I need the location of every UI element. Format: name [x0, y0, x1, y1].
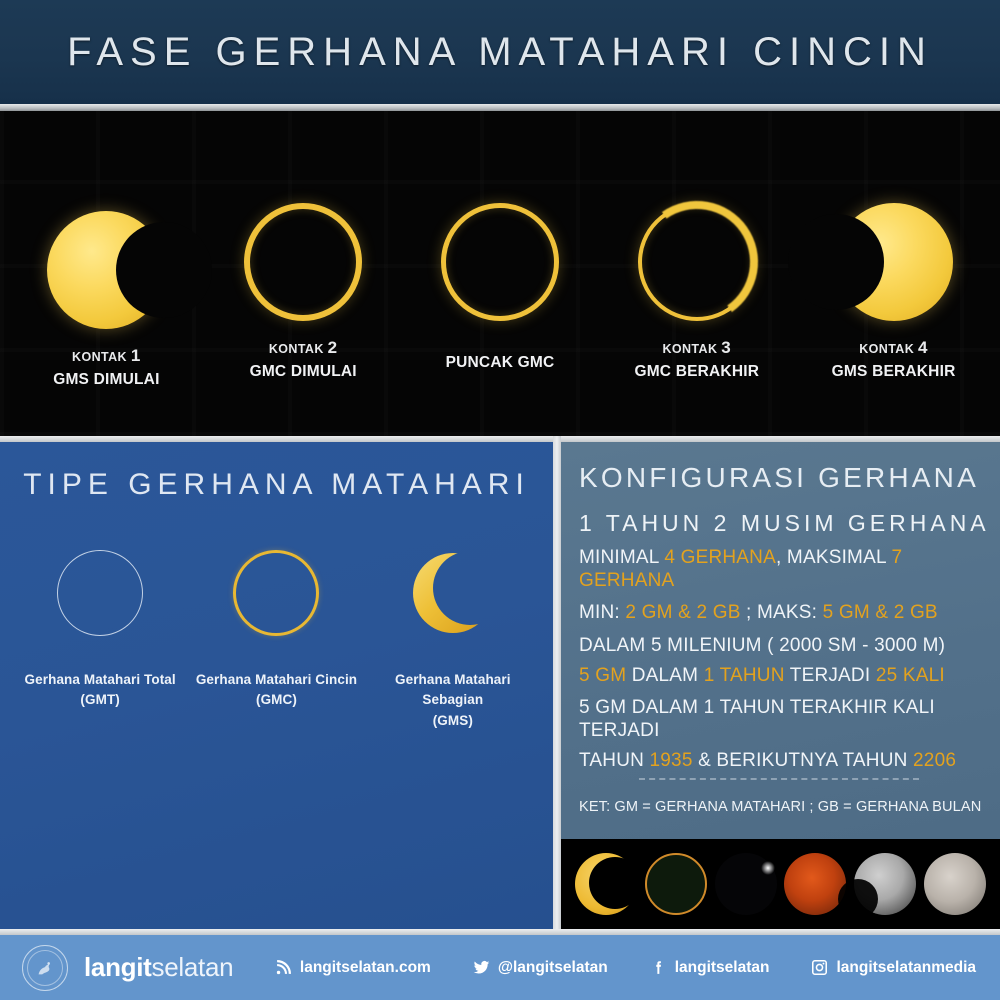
configuration-headline: 1 TAHUN 2 MUSIM GERHANA [579, 510, 1000, 537]
stat-five-gm-frequency: 5 GM DALAM 1 TAHUN TERJADI 25 KALI [579, 664, 1000, 687]
type-item-gms: Gerhana Matahari Sebagian(GMS) [369, 550, 537, 731]
facebook-icon [650, 959, 667, 976]
gold-ring-outline-icon [233, 550, 319, 636]
annular-ring-thin-icon [441, 203, 559, 321]
phase-labels: KONTAK 4 GMS BERAKHIR [832, 337, 956, 383]
configuration-panel-title: KONFIGURASI GERHANA [579, 462, 1000, 494]
phase-item-kontak-1: KONTAK 1 GMS DIMULAI [14, 111, 199, 391]
social-twitter[interactable]: @langitselatan [473, 959, 608, 977]
header-divider [0, 104, 1000, 111]
type-item-gmc: Gerhana Matahari Cincin(GMC) [192, 550, 360, 731]
brand-wordmark: langitselatan [84, 952, 233, 983]
photo-total-lunar-eclipse-blood-moon [784, 853, 846, 915]
langitselatan-emblem-icon [22, 945, 68, 991]
photo-total-solar-eclipse-corona [715, 853, 777, 915]
eclipse-configuration-panel: KONFIGURASI GERHANA 1 TAHUN 2 MUSIM GERH… [561, 442, 1000, 929]
phase-contact-line: KONTAK 4 [832, 337, 956, 360]
gold-crescent-icon [410, 550, 496, 636]
stat-last-occurrence-years: TAHUN 1935 & BERIKUTNYA TAHUN 2206 [579, 749, 1000, 772]
phase-item-kontak-3: KONTAK 3 GMC BERAKHIR [604, 111, 789, 383]
eclipse-photo-strip [561, 839, 1000, 929]
instagram-icon [811, 959, 828, 976]
eclipse-phases-section: KONTAK 1 GMS DIMULAI KONTAK 2 GMC DIMULA… [0, 111, 1000, 436]
right-panel-divider [639, 778, 919, 780]
social-instagram[interactable]: langitselatanmedia [811, 959, 976, 977]
sun-bite-left-icon [835, 203, 953, 321]
phase-labels: KONTAK 2 GMC DIMULAI [250, 337, 357, 383]
phase-caption: PUNCAK GMC [446, 353, 555, 374]
social-links: langitselatan.com @langitselatan langits… [275, 959, 976, 977]
phase-caption: GMC BERAKHIR [634, 362, 759, 383]
social-website[interactable]: langitselatan.com [275, 959, 431, 977]
eclipse-types-panel: TIPE GERHANA MATAHARI Gerhana Matahari T… [0, 442, 553, 929]
header-bar: FASE GERHANA MATAHARI CINCIN [0, 0, 1000, 104]
page-title: FASE GERHANA MATAHARI CINCIN [67, 30, 933, 75]
social-facebook[interactable]: langitselatan [650, 959, 770, 977]
rss-icon [275, 959, 292, 976]
infographic-page: FASE GERHANA MATAHARI CINCIN KONTAK 1 GM… [0, 0, 1000, 1000]
twitter-icon [473, 959, 490, 976]
photo-partial-lunar-eclipse [854, 853, 916, 915]
type-label: Gerhana Matahari Total(GMT) [25, 670, 176, 711]
panel-gap [553, 436, 561, 935]
phase-caption: GMS BERAKHIR [832, 362, 956, 383]
photo-full-moon [924, 853, 986, 915]
phase-item-kontak-4: KONTAK 4 GMS BERAKHIR [801, 111, 986, 383]
stat-min-maks-breakdown: MIN: 2 GM & 2 GB ; MAKS: 5 GM & 2 GB [579, 601, 1000, 624]
eclipse-types-row: Gerhana Matahari Total(GMT) Gerhana Mata… [0, 550, 553, 731]
type-item-gmt: Gerhana Matahari Total(GMT) [16, 550, 184, 731]
phase-labels: KONTAK 3 GMC BERAKHIR [634, 337, 759, 383]
phase-labels: KONTAK 1 GMS DIMULAI [53, 345, 159, 391]
phase-contact-line: KONTAK 1 [53, 345, 159, 368]
stat-min-max-eclipses: MINIMAL 4 GERHANA, MAKSIMAL 7 GERHANA [579, 546, 1000, 592]
photo-annular-eclipse-gold-crescent [575, 853, 637, 915]
annular-ring-offset-icon [638, 203, 756, 321]
photo-annular-eclipse-dark-ring [645, 853, 707, 915]
social-label: langitselatanmedia [836, 959, 976, 977]
footer-bar: langitselatan langitselatan.com @langits… [0, 935, 1000, 1000]
sun-bite-right-icon [47, 211, 165, 329]
phase-contact-line: KONTAK 2 [250, 337, 357, 360]
types-panel-title: TIPE GERHANA MATAHARI [0, 468, 553, 502]
phase-row: KONTAK 1 GMS DIMULAI KONTAK 2 GMC DIMULA… [0, 111, 1000, 436]
type-label: Gerhana Matahari Cincin(GMC) [196, 670, 357, 711]
white-circle-outline-icon [57, 550, 143, 636]
phase-item-puncak: PUNCAK GMC [407, 111, 592, 374]
phase-caption: GMS DIMULAI [53, 370, 159, 391]
annular-ring-icon [244, 203, 362, 321]
phase-contact-line: KONTAK 3 [634, 337, 759, 360]
phase-labels: PUNCAK GMC [446, 351, 555, 374]
social-label: langitselatan.com [300, 959, 431, 977]
phase-caption: GMC DIMULAI [250, 362, 357, 383]
stat-last-occurrence-intro: 5 GM DALAM 1 TAHUN TERAKHIR KALI TERJADI [579, 696, 1000, 742]
type-label: Gerhana Matahari Sebagian(GMS) [369, 670, 537, 731]
legend-note: KET: GM = GERHANA MATAHARI ; GB = GERHAN… [579, 799, 981, 815]
social-label: langitselatan [675, 959, 770, 977]
phase-item-kontak-2: KONTAK 2 GMC DIMULAI [211, 111, 396, 383]
social-label: @langitselatan [498, 959, 608, 977]
stat-millennium-range: DALAM 5 MILENIUM ( 2000 SM - 3000 M) [579, 634, 1000, 657]
